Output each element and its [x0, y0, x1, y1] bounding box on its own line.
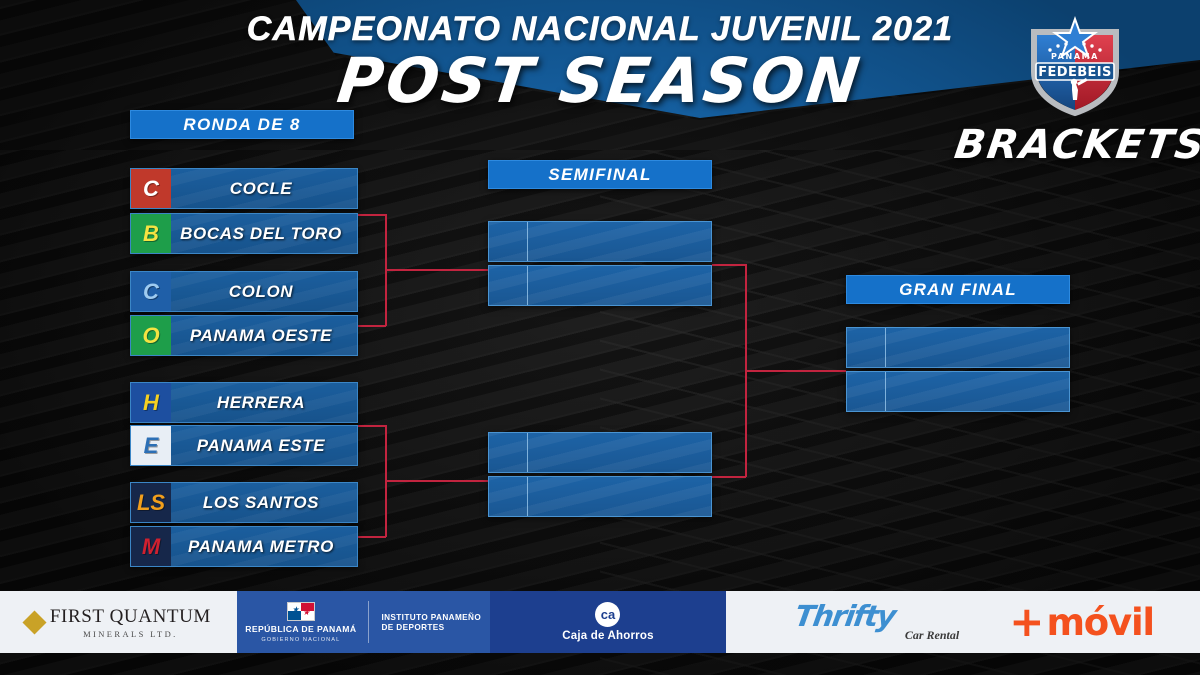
semifinal-slot[interactable] [488, 265, 712, 306]
los-santos-logo: LS [131, 483, 171, 522]
team-row[interactable]: B BOCAS DEL TORO [130, 213, 358, 254]
thrifty-subtitle: Car Rental [905, 628, 959, 643]
final-slot[interactable] [846, 371, 1070, 412]
final-slot[interactable] [846, 327, 1070, 368]
svg-text:PANAMA: PANAMA [1051, 52, 1099, 61]
team-row[interactable]: M PANAMA METRO [130, 526, 358, 567]
team-row[interactable]: H HERRERA [130, 382, 358, 423]
slot-divider [527, 222, 528, 261]
semifinal-slot[interactable] [488, 432, 712, 473]
team-row[interactable]: C COLON [130, 271, 358, 312]
team-row[interactable]: E PANAMA ESTE [130, 425, 358, 466]
cocle-logo: C [131, 169, 171, 208]
panama-oeste-logo: O [131, 316, 171, 355]
semifinal-slot[interactable] [488, 476, 712, 517]
mas-movil-name: móvil [1046, 604, 1153, 641]
team-row[interactable]: LS LOS SANTOS [130, 482, 358, 523]
slot-divider [527, 477, 528, 516]
sponsor-gobierno-nacional[interactable]: ★★ REPÚBLICA DE PANAMÁ GOBIERNO NACIONAL… [237, 591, 490, 653]
team-row[interactable]: C COCLE [130, 168, 358, 209]
team-name: LOS SANTOS [171, 493, 357, 513]
panama-este-logo: E [131, 426, 171, 465]
sponsor-thrifty[interactable]: Thrifty Car Rental [726, 591, 963, 653]
team-name: PANAMA METRO [171, 537, 357, 557]
slot-divider [885, 372, 886, 411]
connector-semi-top [712, 264, 746, 266]
sponsor-first-quantum[interactable]: FIRST QUANTUM MINERALS LTD. [0, 591, 237, 653]
round-header-gran-final: GRAN FINAL [846, 275, 1070, 304]
first-quantum-subtitle: MINERALS LTD. [83, 629, 178, 639]
slot-divider [885, 328, 886, 367]
slot-divider [527, 266, 528, 305]
panama-metro-logo: M [131, 527, 171, 566]
connector-qf1-top [358, 214, 386, 216]
team-name: BOCAS DEL TORO [171, 224, 357, 244]
team-name: HERRERA [171, 393, 357, 413]
connector-qf1-out [385, 269, 488, 271]
gov-country-name: REPÚBLICA DE PANAMÁ [245, 624, 356, 634]
connector-qf1-bottom [358, 325, 386, 327]
bocas-del-toro-logo: B [131, 214, 171, 253]
connector-qf2-out [385, 480, 488, 482]
gov-country-subtitle: GOBIERNO NACIONAL [261, 637, 340, 643]
herrera-logo: H [131, 383, 171, 422]
connector-qf2-top [358, 425, 386, 427]
brackets-heading: BRACKETS [952, 122, 1200, 168]
round-header-semifinal: SEMIFINAL [488, 160, 712, 189]
first-quantum-name: FIRST QUANTUM [50, 606, 211, 628]
institute-line-1: INSTITUTO PANAMEÑO [381, 613, 481, 622]
connector-final-out [745, 370, 846, 372]
team-row[interactable]: O PANAMA OESTE [130, 315, 358, 356]
gov-divider [368, 601, 369, 643]
institute-line-2: DE DEPORTES [381, 623, 481, 632]
connector-semi-bottom [712, 476, 746, 478]
team-name: COLON [171, 282, 357, 302]
bracket-graphic: CAMPEONATO NACIONAL JUVENIL 2021 POST SE… [0, 0, 1200, 675]
plus-icon: + [1009, 607, 1044, 636]
fedebeis-logo: PANAMA FEDEBEIS [1020, 14, 1130, 118]
sponsor-caja-de-ahorros[interactable]: ca Caja de Ahorros [490, 591, 727, 653]
semifinal-slot[interactable] [488, 221, 712, 262]
first-quantum-diamond-icon [22, 610, 46, 634]
connector-qf2-bottom [358, 536, 386, 538]
round-header-ronda-de-8: RONDA DE 8 [130, 110, 354, 139]
caja-de-ahorros-mark-icon: ca [595, 602, 620, 627]
thrifty-name: Thrifty [793, 602, 897, 631]
slot-divider [527, 433, 528, 472]
sponsor-bar: FIRST QUANTUM MINERALS LTD. ★★ REPÚBLICA… [0, 591, 1200, 653]
caja-de-ahorros-name: Caja de Ahorros [562, 630, 653, 642]
team-name: PANAMA OESTE [171, 326, 357, 346]
sponsor-mas-movil[interactable]: + móvil [963, 591, 1200, 653]
team-name: COCLE [171, 179, 357, 199]
colon-logo: C [131, 272, 171, 311]
panama-flag-icon: ★★ [287, 602, 315, 621]
svg-text:FEDEBEIS: FEDEBEIS [1038, 65, 1112, 80]
team-name: PANAMA ESTE [171, 436, 357, 456]
